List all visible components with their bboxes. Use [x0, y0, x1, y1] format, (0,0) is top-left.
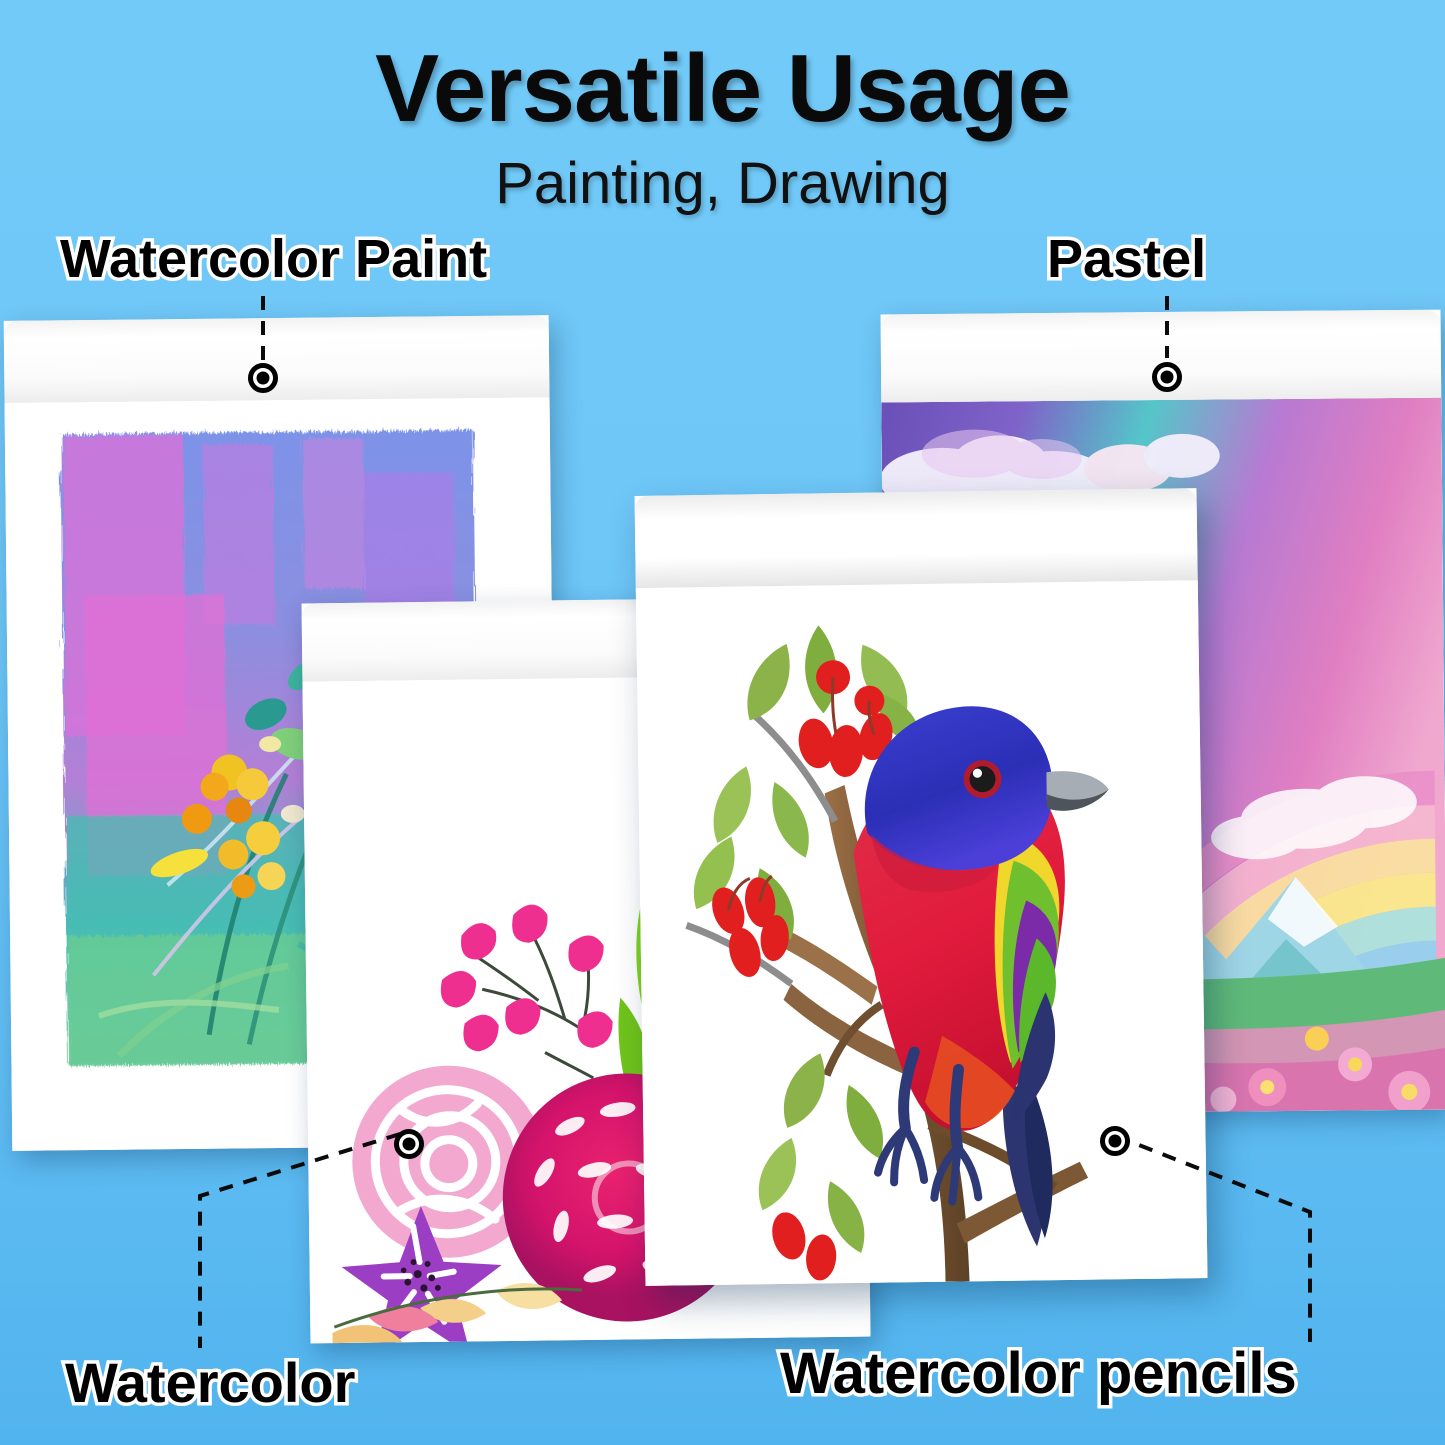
- pad-watercolor-pencils[interactable]: [635, 488, 1208, 1286]
- callout-dot-watercolor-pencils[interactable]: [1100, 1126, 1130, 1156]
- pad-sheet: [636, 580, 1208, 1286]
- callout-dot-pastel[interactable]: [1152, 362, 1182, 392]
- pad-top-flap: [4, 315, 550, 404]
- page-title: Versatile Usage: [0, 34, 1445, 144]
- callout-label-pastel: Pastel: [1047, 228, 1206, 290]
- callout-label-watercolor-paint: Watercolor Paint: [60, 228, 487, 290]
- callout-label-watercolor: Watercolor: [65, 1350, 355, 1415]
- page-subtitle: Painting, Drawing: [0, 150, 1445, 217]
- callout-label-watercolor-pencils: Watercolor pencils: [780, 1340, 1297, 1407]
- pad-top-flap: [635, 488, 1198, 589]
- artwork-painted-bunting-on-berry-branch: [636, 580, 1208, 1286]
- callout-dot-watercolor-paint[interactable]: [248, 363, 278, 393]
- callout-dot-watercolor[interactable]: [394, 1129, 424, 1159]
- poster-canvas: Versatile Usage Painting, Drawing: [0, 0, 1445, 1445]
